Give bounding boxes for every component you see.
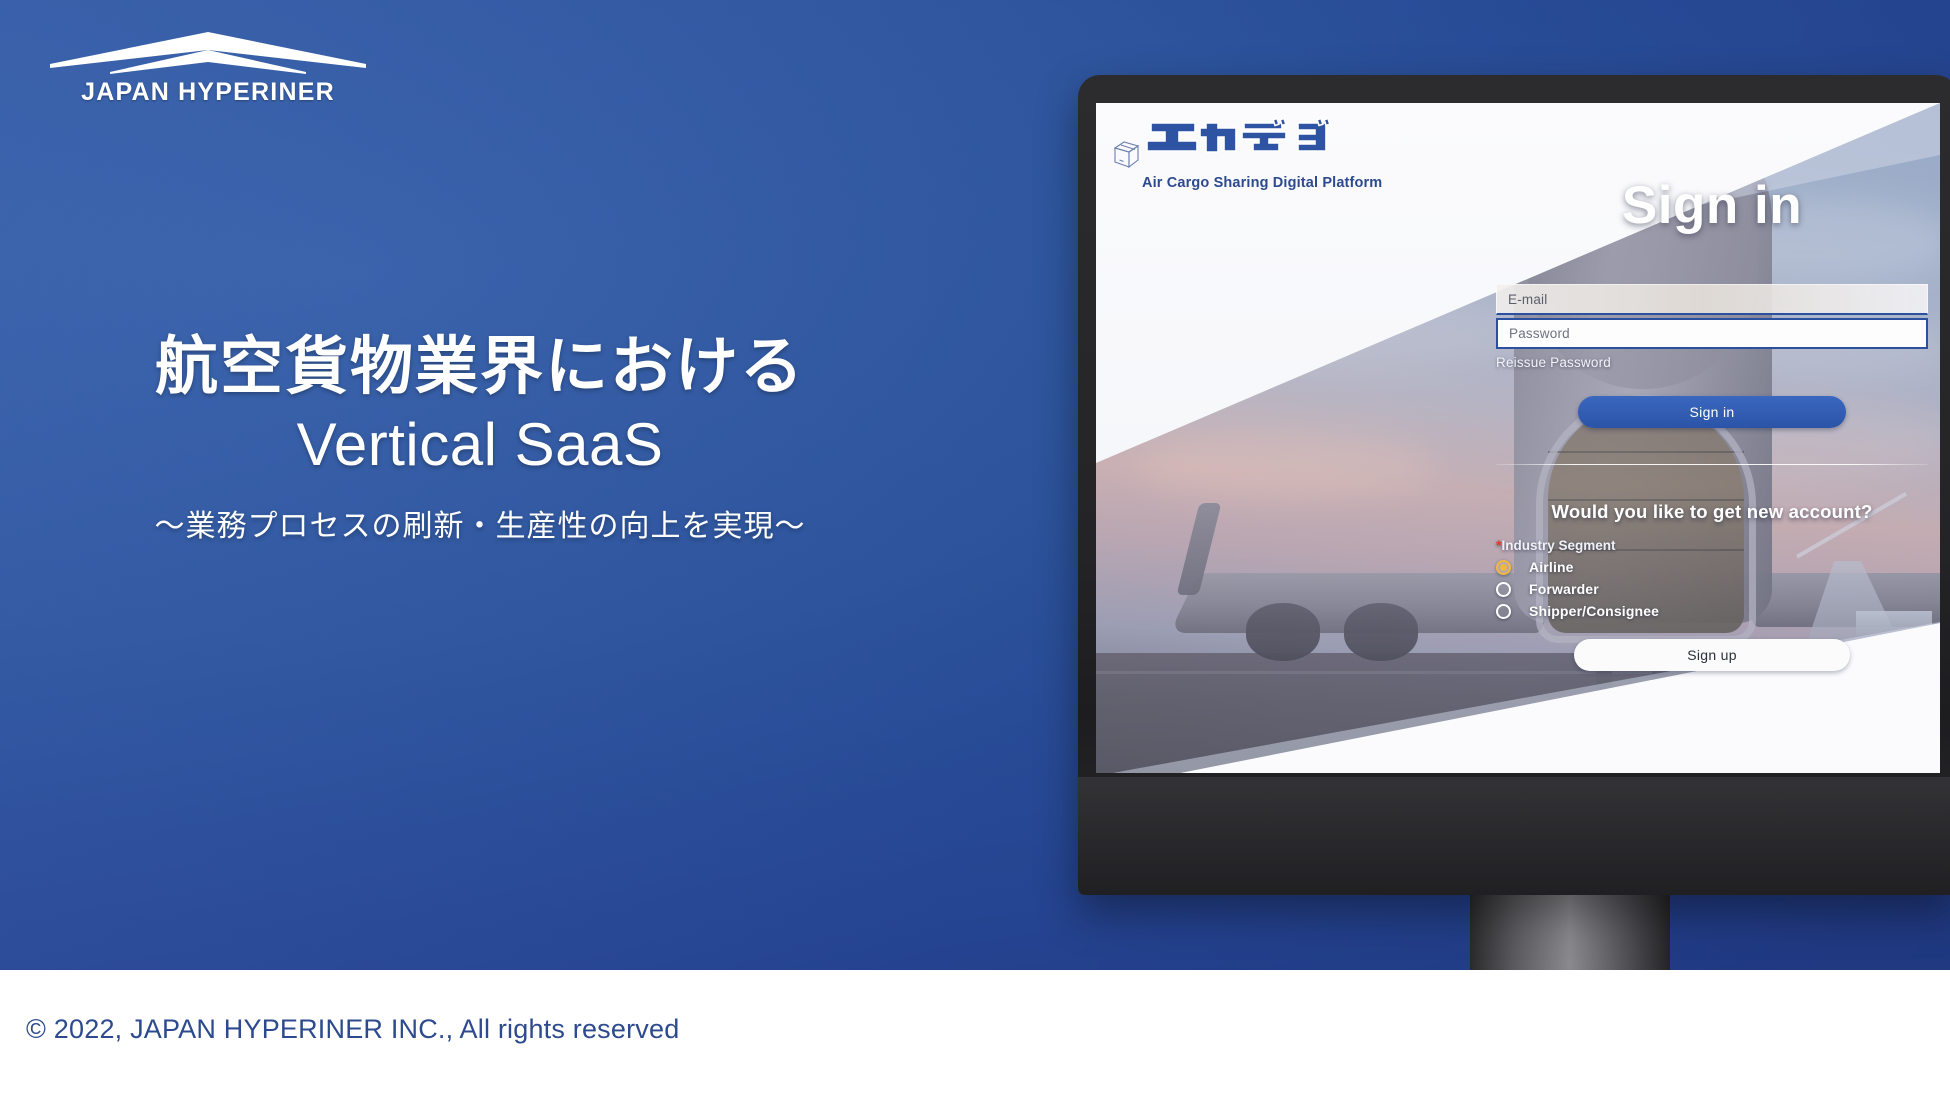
password-placeholder: Password <box>1498 326 1570 341</box>
new-account-prompt: Would you like to get new account? <box>1496 501 1928 523</box>
brand-name: JAPAN HYPERINER <box>48 78 368 107</box>
monitor-screen: Air Cargo Sharing Digital Platform Sign … <box>1096 103 1940 773</box>
reissue-password-link[interactable]: Reissue Password <box>1496 355 1928 370</box>
headline-line-1: 航空貨物業界における <box>0 330 960 404</box>
headline-subtitle: 〜業務プロセスの刷新・生産性の向上を実現〜 <box>0 506 960 548</box>
app-wordmark <box>1146 117 1336 170</box>
email-field[interactable]: E-mail <box>1496 284 1928 315</box>
radio-label: Forwarder <box>1529 581 1599 597</box>
signup-button[interactable]: Sign up <box>1574 639 1850 671</box>
monitor-mockup: Air Cargo Sharing Digital Platform Sign … <box>1078 75 1950 895</box>
radio-icon-selected[interactable] <box>1496 560 1511 575</box>
password-field[interactable]: Password <box>1496 318 1928 349</box>
signin-button[interactable]: Sign in <box>1578 396 1846 428</box>
wing-chevron-icon <box>48 28 368 76</box>
radio-label: Airline <box>1529 559 1574 575</box>
headline-line-2: Vertical SaaS <box>0 406 960 484</box>
copyright-text: © 2022, JAPAN HYPERINER INC., All rights… <box>26 1014 679 1045</box>
headline-block: 航空貨物業界における Vertical SaaS 〜業務プロセスの刷新・生産性の… <box>0 330 960 548</box>
signin-form: Sign in E-mail Password Reissue Password… <box>1496 175 1928 671</box>
form-divider <box>1496 464 1928 465</box>
footer-bar: © 2022, JAPAN HYPERINER INC., All rights… <box>0 970 1950 1097</box>
monitor-body: Air Cargo Sharing Digital Platform Sign … <box>1078 75 1950 895</box>
app-tagline: Air Cargo Sharing Digital Platform <box>1142 175 1382 191</box>
radio-label: Shipper/Consignee <box>1529 603 1659 619</box>
signin-title: Sign in <box>1496 175 1928 236</box>
industry-segment-label: *Industry Segment <box>1496 537 1928 553</box>
radio-option-shipper-consignee[interactable]: Shipper/Consignee <box>1496 603 1928 619</box>
email-placeholder: E-mail <box>1497 292 1547 307</box>
monitor-chin <box>1078 777 1950 895</box>
slide-root: JAPAN HYPERINER 航空貨物業界における Vertical SaaS… <box>0 0 1950 1097</box>
login-app: Air Cargo Sharing Digital Platform Sign … <box>1096 103 1940 773</box>
app-logo: Air Cargo Sharing Digital Platform <box>1112 117 1382 191</box>
brand-logo: JAPAN HYPERINER <box>48 28 368 107</box>
cargo-box-icon <box>1112 138 1142 170</box>
radio-icon[interactable] <box>1496 604 1511 619</box>
industry-segment-text: Industry Segment <box>1501 538 1615 553</box>
radio-option-forwarder[interactable]: Forwarder <box>1496 581 1928 597</box>
radio-option-airline[interactable]: Airline <box>1496 559 1928 575</box>
radio-icon[interactable] <box>1496 582 1511 597</box>
